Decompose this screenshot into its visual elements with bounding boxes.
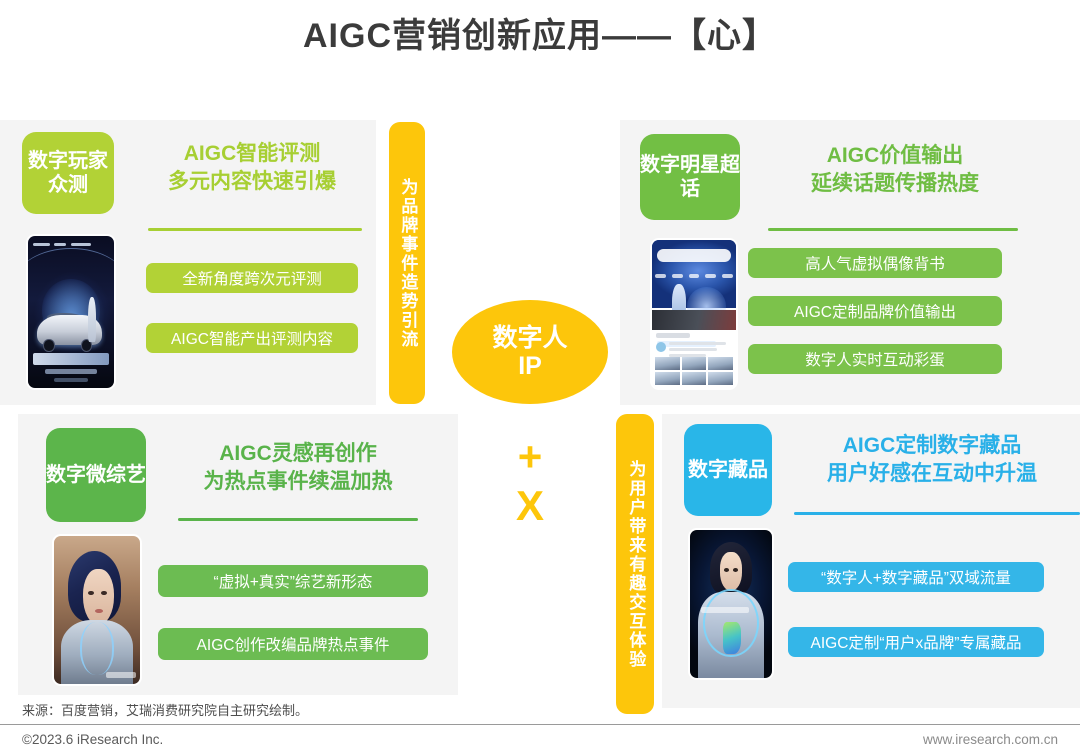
thumbnail-digital-human-collectible (688, 528, 774, 680)
digital-human-woman-image (54, 536, 140, 684)
pill-top-right-2: AIGC定制品牌价值输出 (748, 296, 1002, 326)
weibo-tab-strip (655, 270, 732, 280)
pill-top-left-2: AIGC智能产出评测内容 (146, 323, 358, 353)
plus-symbol: + (452, 436, 608, 478)
pill-top-right-1: 高人气虚拟偶像背书 (748, 248, 1002, 278)
badge-digital-collectible: 数字藏品 (684, 424, 772, 516)
copyright-text: ©2023.6 iResearch Inc. (22, 732, 163, 747)
collectible-artwork (723, 622, 741, 655)
pill-bottom-right-1: “数字人+数字藏品”双域流量 (788, 562, 1044, 592)
divider-bottom-right (794, 512, 1080, 515)
weibo-tab-4 (705, 274, 716, 278)
headline-bottom-left-line2: 为热点事件续温加热 (158, 468, 438, 496)
weibo-search-bar (657, 249, 731, 262)
digital-human-collectible-image (690, 530, 772, 678)
badge-digital-micro-variety: 数字微综艺 (46, 428, 146, 522)
thumbnail-car-launch-poster (26, 234, 116, 390)
weibo-photo-3 (708, 357, 733, 370)
weibo-photo-5 (682, 372, 707, 385)
digital-human-collectible-caption (701, 607, 749, 613)
headline-top-right: AIGC价值输出 延续话题传播热度 (752, 142, 1038, 197)
pill-bottom-left-2: AIGC创作改编品牌热点事件 (158, 628, 428, 660)
car-poster-title-bar (33, 353, 109, 365)
weibo-app-image (652, 240, 736, 388)
weibo-photo-4 (655, 372, 680, 385)
car-wheel-front (43, 339, 54, 351)
car-poster-logo-3 (71, 243, 91, 246)
weibo-tab-2 (672, 274, 683, 278)
headline-bottom-left: AIGC灵感再创作 为热点事件续温加热 (158, 440, 438, 495)
digital-human-woman-face (83, 569, 114, 625)
headline-top-right-line1: AIGC价值输出 (752, 142, 1038, 170)
divider-top-left (148, 228, 362, 231)
weibo-tab-3 (689, 274, 700, 278)
pill-top-right-3: 数字人实时互动彩蛋 (748, 344, 1002, 374)
car-poster-logo-bar (28, 236, 114, 253)
divider-bottom-left (178, 518, 418, 521)
headline-bottom-right: AIGC定制数字藏品 用户好感在互动中升温 (786, 432, 1078, 487)
divider-top-right (768, 228, 1018, 231)
weibo-photo-2 (682, 357, 707, 370)
headline-bottom-right-line2: 用户好感在互动中升温 (786, 460, 1078, 488)
footer-divider (0, 724, 1080, 725)
pill-bottom-left-1: “虚拟+真实”综艺新形态 (158, 565, 428, 597)
thumbnail-weibo-super-topic (650, 238, 738, 390)
badge-digital-player-review: 数字玩家众测 (22, 132, 114, 214)
weibo-post-line-1 (669, 342, 726, 345)
headline-top-left-line2: 多元内容快速引爆 (128, 168, 376, 196)
x-symbol: X (452, 485, 608, 527)
weibo-tab-5 (722, 274, 733, 278)
weibo-media-card (652, 310, 736, 331)
page-title: AIGC营销创新应用——【心】 (0, 8, 1080, 57)
car-poster-image (28, 236, 114, 388)
ribbon-brand-event-buzz: 为品牌事件造势引流 (389, 122, 425, 404)
weibo-tab-1 (655, 274, 666, 278)
center-hub-digital-human-ip: 数字人 IP (452, 300, 608, 404)
car-poster-person (88, 297, 96, 343)
digital-human-collectible-face (720, 552, 743, 590)
headline-top-right-line2: 延续话题传播热度 (752, 170, 1038, 198)
slide-canvas: AIGC营销创新应用——【心】 数字玩家众测 AIGC智能评测 多元内容快速引爆… (0, 0, 1080, 750)
pill-bottom-right-2: AIGC定制“用户x品牌”专属藏品 (788, 627, 1044, 657)
hub-label-line2: IP (518, 352, 542, 381)
weibo-post-line-2 (669, 348, 717, 351)
car-poster-logo-2 (54, 243, 66, 246)
website-text: www.iresearch.com.cn (923, 732, 1058, 747)
car-poster-footnote-bar (54, 378, 88, 382)
weibo-photo-6 (708, 372, 733, 385)
headline-bottom-left-line1: AIGC灵感再创作 (158, 440, 438, 468)
source-note: 来源：百度营销，艾瑞消费研究院自主研究绘制。 (22, 700, 308, 719)
weibo-avatar (656, 342, 666, 352)
pill-top-left-1: 全新角度跨次元评测 (146, 263, 358, 293)
headline-bottom-right-line1: AIGC定制数字藏品 (786, 432, 1078, 460)
weibo-photo-grid (655, 357, 734, 385)
ribbon-fun-interactive-experience: 为用户带来有趣交互体验 (616, 414, 654, 714)
digital-human-woman-neon-trim (80, 622, 114, 675)
car-poster-logo-1 (33, 243, 50, 246)
car-poster-subtitle-bar (45, 369, 97, 374)
weibo-meta-line (656, 333, 690, 337)
douyin-watermark (106, 672, 135, 678)
digital-human-woman-lips (95, 609, 103, 613)
thumbnail-digital-human-woman (52, 534, 142, 686)
headline-top-left-line1: AIGC智能评测 (128, 140, 376, 168)
headline-top-left: AIGC智能评测 多元内容快速引爆 (128, 140, 376, 195)
hub-label-line1: 数字人 (492, 324, 567, 353)
weibo-photo-1 (655, 357, 680, 370)
badge-digital-star-topic: 数字明星超话 (640, 134, 740, 220)
